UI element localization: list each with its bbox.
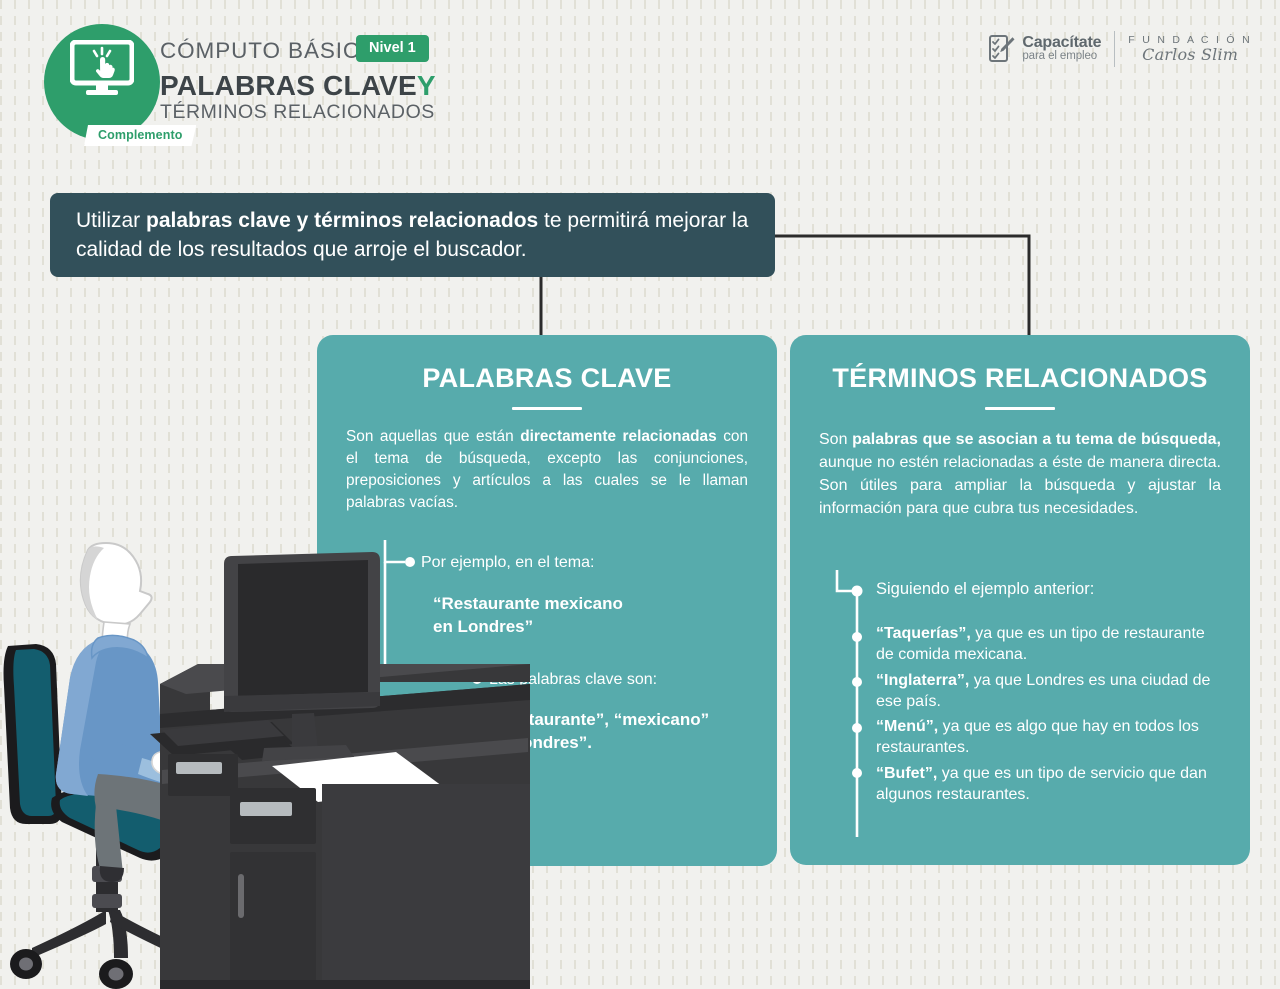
label-following-example: Siguiendo el ejemplo anterior: [876, 580, 1094, 599]
intro-callout-box: Utilizar palabras clave y términos relac… [50, 193, 775, 277]
list-item: “Taquerías”, ya que es un tipo de restau… [876, 623, 1216, 666]
desk [150, 664, 530, 989]
person-at-desk-computer-illustration [0, 518, 530, 989]
intro-text-bold: palabras clave y términos relacionados [146, 209, 538, 232]
list-item: “Inglaterra”, ya que Londres es una ciud… [876, 670, 1216, 713]
related-terms-list: “Taquerías”, ya que es un tipo de restau… [876, 623, 1216, 809]
panel-terminos-relacionados: TÉRMINOS RELACIONADOS Son palabras que s… [790, 335, 1250, 865]
infographic-page: Complemento CÓMPUTO BÁSICO Nivel 1 PALAB… [0, 0, 1280, 989]
list-item: “Menú”, ya que es algo que hay en todos … [876, 716, 1216, 759]
term-name: “Taquerías”, [876, 625, 971, 642]
term-name: “Bufet”, [876, 765, 937, 782]
intro-text-part1: Utilizar [76, 209, 146, 232]
term-name: “Inglaterra”, [876, 672, 969, 689]
term-name: “Menú”, [876, 718, 938, 735]
intro-text: Utilizar palabras clave y términos relac… [76, 207, 751, 265]
list-item: “Bufet”, ya que es un tipo de servicio q… [876, 763, 1216, 806]
